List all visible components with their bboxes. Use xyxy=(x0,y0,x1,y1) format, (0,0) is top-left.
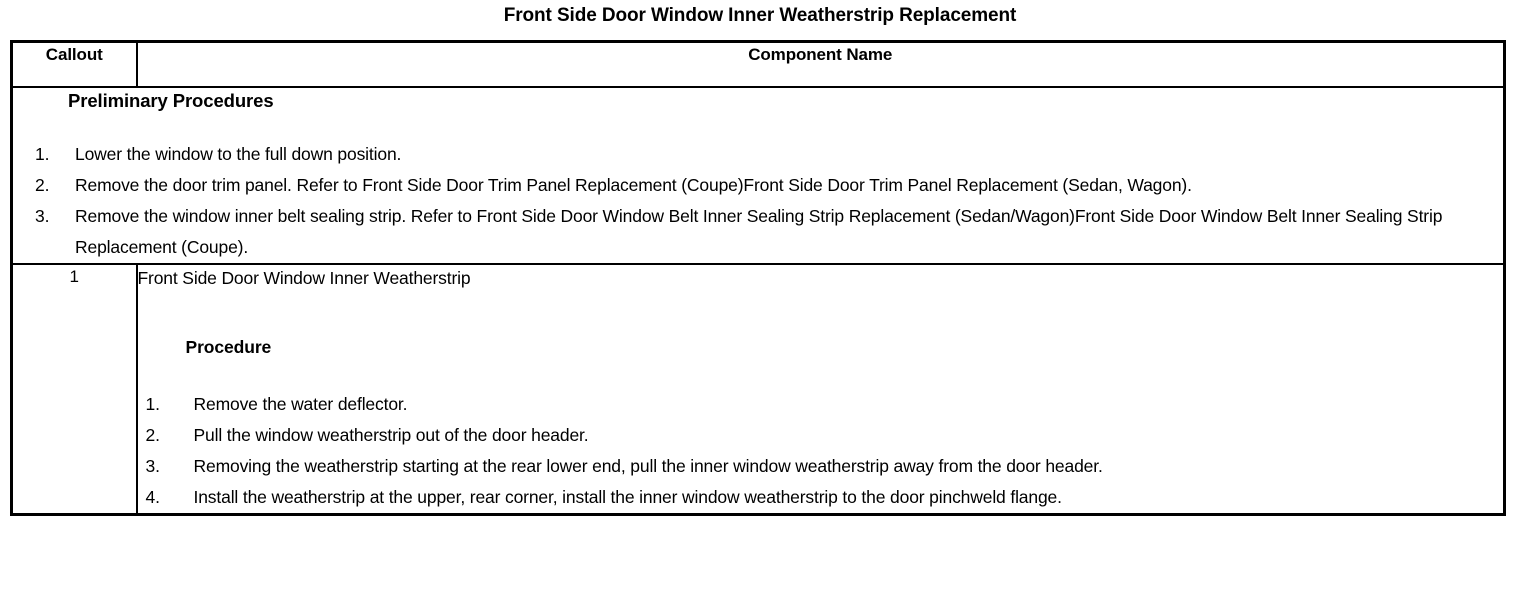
preliminary-steps-list: 1. Lower the window to the full down pos… xyxy=(13,139,1503,263)
page-title: Front Side Door Window Inner Weatherstri… xyxy=(0,4,1520,28)
list-item-text: Install the weatherstrip at the upper, r… xyxy=(194,487,1062,507)
service-procedure-page: Front Side Door Window Inner Weatherstri… xyxy=(0,0,1520,598)
list-item-text: Removing the weatherstrip starting at th… xyxy=(194,456,1103,476)
component-name-label: Front Side Door Window Inner Weatherstri… xyxy=(138,265,1504,291)
column-header-callout: Callout xyxy=(12,42,137,88)
component-cell: Front Side Door Window Inner Weatherstri… xyxy=(137,264,1505,515)
list-item-text: Remove the window inner belt sealing str… xyxy=(75,206,1442,257)
preliminary-procedures-cell: Preliminary Procedures 1. Lower the wind… xyxy=(12,87,1505,264)
list-item-number: 1. xyxy=(35,139,69,170)
procedure-heading: Procedure xyxy=(186,335,1504,359)
list-item: 2. Remove the door trim panel. Refer to … xyxy=(13,170,1499,201)
table-row: 1 Front Side Door Window Inner Weatherst… xyxy=(12,264,1505,515)
list-item: 3. Removing the weatherstrip starting at… xyxy=(138,451,1500,482)
list-item-number: 2. xyxy=(35,170,69,201)
callout-number: 1 xyxy=(12,264,137,515)
preliminary-procedures-heading: Preliminary Procedures xyxy=(68,88,1503,113)
table-header-row: Callout Component Name xyxy=(12,42,1505,88)
procedure-steps-list: 1. Remove the water deflector. 2. Pull t… xyxy=(138,389,1504,513)
table-body: Preliminary Procedures 1. Lower the wind… xyxy=(12,87,1505,515)
list-item: 1. Remove the water deflector. xyxy=(138,389,1500,420)
list-item: 1. Lower the window to the full down pos… xyxy=(13,139,1499,170)
list-item-number: 1. xyxy=(146,389,180,420)
list-item-number: 2. xyxy=(146,420,180,451)
list-item-text: Remove the water deflector. xyxy=(194,394,408,414)
list-item: 4. Install the weatherstrip at the upper… xyxy=(138,482,1500,513)
procedure-table: Callout Component Name Preliminary Proce… xyxy=(10,40,1506,516)
list-item-text: Pull the window weatherstrip out of the … xyxy=(194,425,589,445)
preliminary-procedures-row: Preliminary Procedures 1. Lower the wind… xyxy=(12,87,1505,264)
list-item: 2. Pull the window weatherstrip out of t… xyxy=(138,420,1500,451)
list-item-text: Lower the window to the full down positi… xyxy=(75,144,401,164)
list-item-text: Remove the door trim panel. Refer to Fro… xyxy=(75,175,1192,195)
list-item-number: 3. xyxy=(35,201,69,232)
list-item-number: 4. xyxy=(146,482,180,513)
table-header: Callout Component Name xyxy=(12,42,1505,88)
list-item-number: 3. xyxy=(146,451,180,482)
list-item: 3. Remove the window inner belt sealing … xyxy=(13,201,1499,263)
column-header-component-name: Component Name xyxy=(137,42,1505,88)
